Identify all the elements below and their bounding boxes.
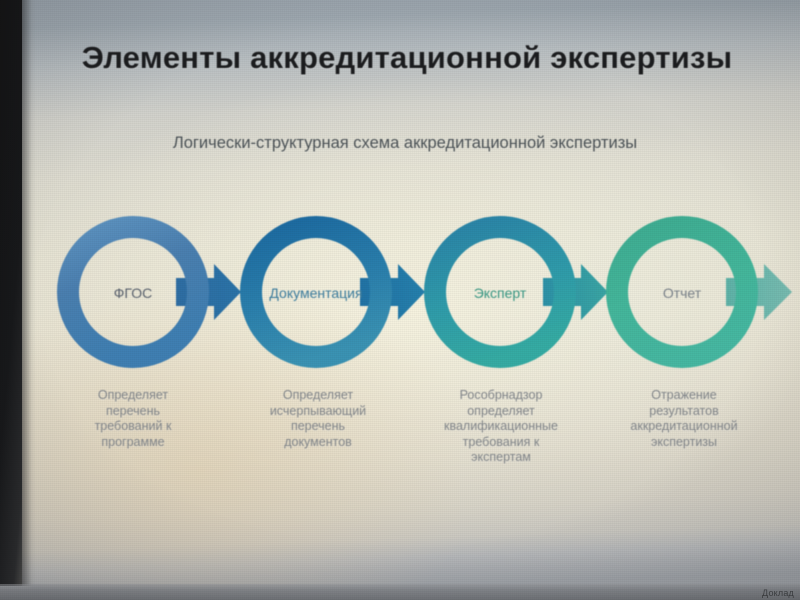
node-caption-fgos: Определяет перечень требований к програм… <box>53 388 213 450</box>
node-caption-otchet: Отражение результатов аккредитационной э… <box>594 388 774 450</box>
screen-bezel-left <box>0 0 22 586</box>
node-caption-ekspert: Рособрнадзор определяет квалификационные… <box>406 388 596 466</box>
screen-bezel-left-shadow <box>22 0 36 586</box>
process-chain-diagram <box>0 0 800 600</box>
screen-bezel-bottom <box>0 584 800 600</box>
presentation-slide: Элементы аккредитационной экспертизы Лог… <box>0 0 800 600</box>
slide-photo-stage: Элементы аккредитационной экспертизы Лог… <box>0 0 800 600</box>
node-caption-dokumentaciya: Определяет исчерпывающий перечень докуме… <box>230 388 406 450</box>
corner-note: Доклад <box>762 588 794 598</box>
